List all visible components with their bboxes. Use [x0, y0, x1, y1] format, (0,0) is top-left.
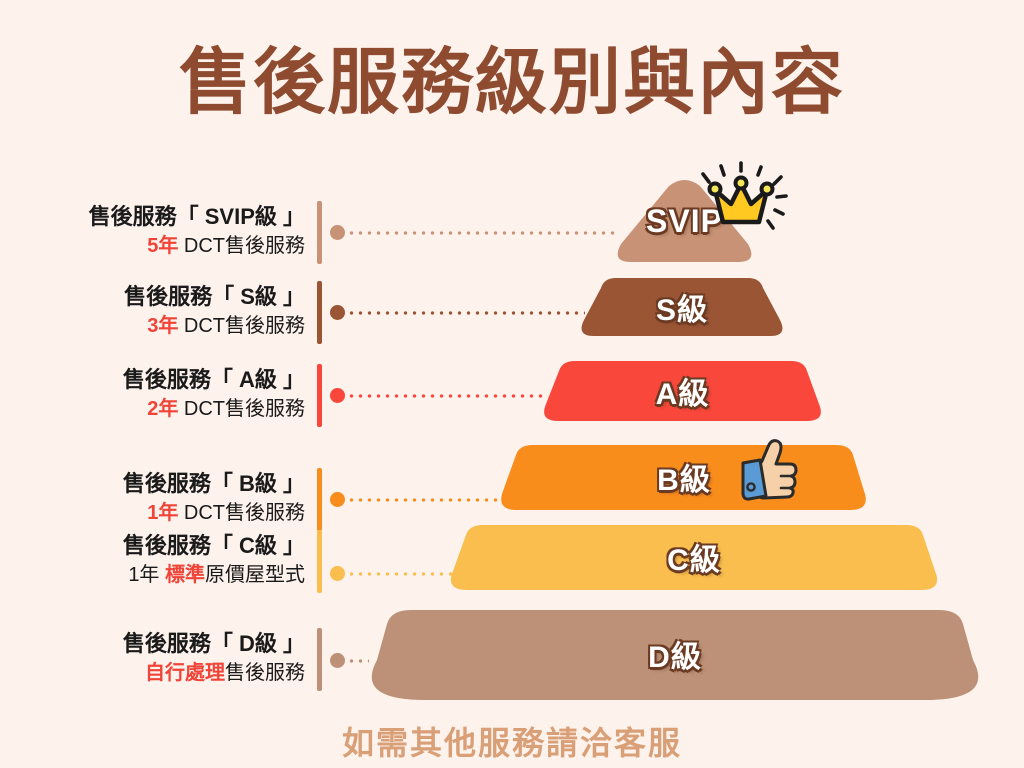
legend-sub-highlight-d: 自行處理 [145, 662, 225, 684]
tier-badge-d: D級 [648, 632, 702, 676]
legend-dot-s [330, 305, 345, 320]
legend-row-svip[interactable]: 售後服務「 SVIP級 」 5年 DCT售後服務 [0, 203, 305, 259]
tier-badge-svip: SVIP [646, 203, 723, 240]
pyramid-tier-s[interactable]: S級 [572, 276, 792, 338]
legend-title-a: 售後服務「 A級 」 [0, 366, 305, 394]
legend-title-svip: 售後服務「 SVIP級 」 [0, 203, 305, 231]
legend-connector-b [347, 498, 507, 502]
tier-badge-a: A級 [656, 369, 710, 413]
legend-connector-svip [347, 231, 619, 235]
legend-title-d: 售後服務「 D級 」 [0, 630, 305, 658]
pyramid-tier-c[interactable]: C級 [440, 521, 948, 593]
legend-sub-suffix-d: 售後服務 [225, 662, 305, 684]
service-level-legend: 售後服務「 SVIP級 」 5年 DCT售後服務 售後服務「 S級 」 3年 D… [0, 0, 330, 768]
legend-sub-c: 1年 標準原價屋型式 [0, 562, 305, 588]
legend-sub-suffix-svip: DCT售後服務 [178, 235, 305, 257]
legend-bar-s [317, 281, 322, 344]
pyramid-tier-svip[interactable]: SVIP [612, 176, 757, 266]
legend-sub-d: 自行處理售後服務 [0, 660, 305, 686]
pyramid-tier-a[interactable]: A級 [535, 358, 830, 424]
tier-badge-s: S級 [656, 285, 708, 329]
legend-bar-svip [317, 201, 322, 264]
tier-badge-b: B級 [657, 455, 711, 499]
tier-badge-c: C級 [667, 535, 721, 579]
footer-note: 如需其他服務請洽客服 [0, 718, 1024, 764]
legend-title-b: 售後服務「 B級 」 [0, 470, 305, 498]
legend-row-b[interactable]: 售後服務「 B級 」 1年 DCT售後服務 [0, 470, 305, 526]
legend-dot-svip [330, 225, 345, 240]
legend-row-c[interactable]: 售後服務「 C級 」 1年 標準原價屋型式 [0, 532, 305, 588]
pyramid-tier-d[interactable]: D級 [355, 604, 995, 704]
legend-sub-suffix-b: DCT售後服務 [178, 502, 305, 524]
legend-sub-highlight-s: 3年 [147, 315, 178, 337]
legend-sub-highlight-b: 1年 [147, 502, 178, 524]
legend-sub-highlight-a: 2年 [147, 398, 178, 420]
legend-title-s: 售後服務「 S級 」 [0, 283, 305, 311]
legend-sub-b: 1年 DCT售後服務 [0, 500, 305, 526]
legend-row-d[interactable]: 售後服務「 D級 」 自行處理售後服務 [0, 630, 305, 686]
legend-sub-prefix-c: 1年 [128, 564, 165, 586]
legend-sub-suffix-c: 原價屋型式 [205, 564, 305, 586]
legend-sub-suffix-s: DCT售後服務 [178, 315, 305, 337]
legend-sub-highlight-c: 標準 [165, 564, 205, 586]
legend-sub-suffix-a: DCT售後服務 [178, 398, 305, 420]
legend-title-c: 售後服務「 C級 」 [0, 532, 305, 560]
legend-connector-s [347, 311, 585, 315]
legend-connector-c [347, 572, 457, 576]
legend-sub-svip: 5年 DCT售後服務 [0, 233, 305, 259]
legend-row-s[interactable]: 售後服務「 S級 」 3年 DCT售後服務 [0, 283, 305, 339]
legend-row-a[interactable]: 售後服務「 A級 」 2年 DCT售後服務 [0, 366, 305, 422]
legend-dot-a [330, 388, 345, 403]
legend-sub-highlight-svip: 5年 [147, 235, 178, 257]
infographic-canvas: 售後服務級別與內容 SVIP S級 A級 [0, 0, 1024, 768]
pyramid-tier-b[interactable]: B級 [493, 441, 875, 513]
legend-bar-a [317, 364, 322, 427]
legend-bar-d [317, 628, 322, 691]
legend-dot-c [330, 566, 345, 581]
legend-sub-a: 2年 DCT售後服務 [0, 396, 305, 422]
legend-sub-s: 3年 DCT售後服務 [0, 313, 305, 339]
legend-connector-a [347, 394, 545, 398]
legend-bar-c [317, 530, 322, 593]
legend-bar-b [317, 468, 322, 531]
legend-dot-d [330, 653, 345, 668]
legend-dot-b [330, 492, 345, 507]
legend-connector-d [347, 659, 369, 663]
